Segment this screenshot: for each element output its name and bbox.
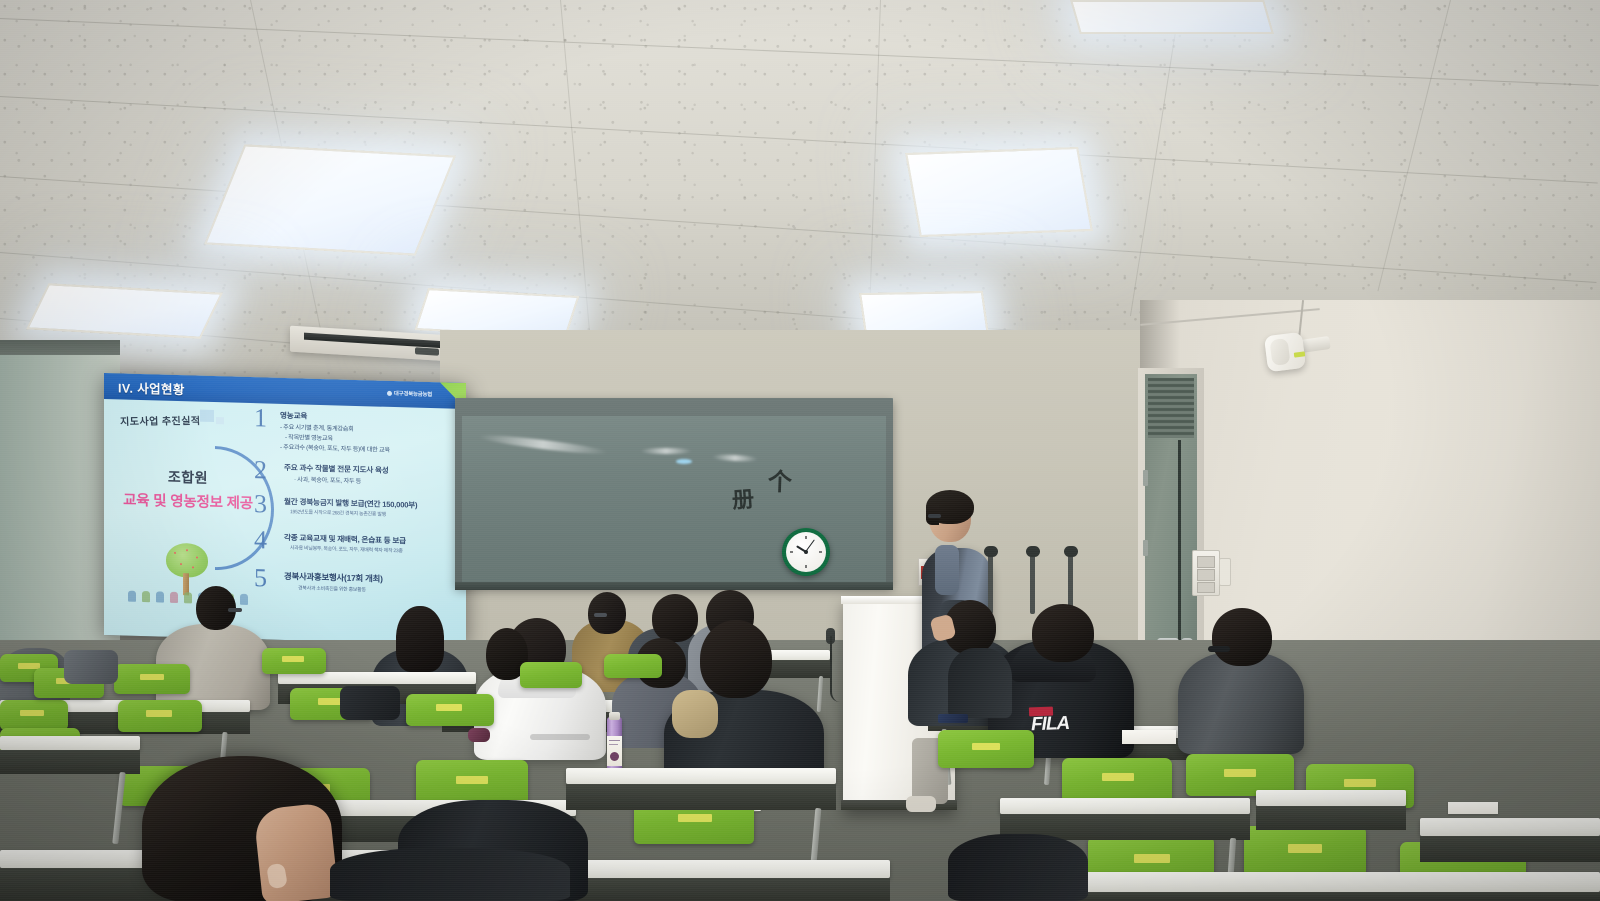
chair-label xyxy=(456,776,488,784)
chair-label xyxy=(1344,779,1376,787)
chair[interactable] xyxy=(262,648,326,674)
backpack xyxy=(340,686,400,720)
desk-front xyxy=(560,878,890,901)
handout-paper xyxy=(1448,802,1498,814)
chair[interactable] xyxy=(938,730,1034,768)
chair[interactable] xyxy=(114,664,190,694)
audience-glasses xyxy=(594,613,607,617)
figure-icon xyxy=(170,592,178,603)
door-hinge xyxy=(1143,540,1148,556)
chair[interactable] xyxy=(520,662,582,688)
wall-clock xyxy=(782,528,830,576)
slide-list-item: 3 월간 경북능금지 발행 보급(연간 150,000부) 1952년도를 시작… xyxy=(254,495,464,531)
chair-label xyxy=(972,743,1000,750)
logo-mark-icon xyxy=(387,390,392,395)
figure-icon xyxy=(128,591,136,602)
audience-body xyxy=(948,648,1012,718)
desk xyxy=(1000,798,1250,814)
mic-stand xyxy=(988,552,993,614)
chair[interactable] xyxy=(406,694,494,726)
slide-item-number: 3 xyxy=(254,491,267,517)
whiteboard-writing: 册 xyxy=(731,481,755,514)
presenter-shirt xyxy=(935,545,959,595)
chair-label xyxy=(1134,854,1170,863)
audience-glasses xyxy=(228,608,242,612)
slide-item-number: 2 xyxy=(254,457,267,483)
desk xyxy=(566,768,836,784)
whiteboard-tray xyxy=(455,582,893,590)
mic-stand xyxy=(1068,552,1073,610)
speaker-grille xyxy=(1269,338,1290,366)
bottle-cap xyxy=(609,712,620,720)
light-switch-button[interactable] xyxy=(1197,556,1215,568)
chair-label xyxy=(20,710,44,716)
slide-list-item: 4 각종 교육교재 및 재배력, 온습표 등 보급 사과용 비닐봉투, 복숭아,… xyxy=(254,531,464,567)
desk-item xyxy=(468,728,490,742)
desk xyxy=(1256,790,1406,806)
chair-label xyxy=(146,710,172,717)
slide-item-number: 5 xyxy=(254,565,267,591)
ceiling-light-panel xyxy=(905,147,1093,237)
audience-body xyxy=(1178,652,1304,754)
figure-icon xyxy=(142,591,150,602)
bottle-label xyxy=(607,736,622,766)
handout-paper xyxy=(1122,730,1176,744)
chair-label xyxy=(678,814,712,822)
slide-item-list: 1 영농교육 - 주요 시기별 춘계, 동계강습회 - 작목반별 영농교육 - … xyxy=(254,409,464,605)
slide-list-item: 2 주요 과수 작물별 전문 지도사 육성 · 사과, 복숭아, 포도, 자두 … xyxy=(254,461,464,497)
chair[interactable] xyxy=(416,760,528,804)
mic-stand xyxy=(1030,552,1035,614)
projection-screen: IV. 사업현황 대구경북능금농협 지도사업 추진실적 조합원 교육 및 영농정… xyxy=(104,373,466,645)
slide-decor-square xyxy=(200,410,214,422)
slide-logo: 대구경북능금농협 xyxy=(387,389,432,398)
desk-front xyxy=(1256,806,1406,830)
desk xyxy=(560,860,890,878)
desk-front xyxy=(566,784,836,810)
presentation-slide: IV. 사업현황 대구경북능금농협 지도사업 추진실적 조합원 교육 및 영농정… xyxy=(104,373,466,645)
hoodie-print xyxy=(530,734,590,740)
slide-item-number: 1 xyxy=(254,405,267,431)
ceiling-light-panel xyxy=(26,283,223,338)
figure-icon xyxy=(156,591,164,602)
slide-list-item: 1 영농교육 - 주요 시기별 춘계, 동계강습회 - 작목반별 영농교육 - … xyxy=(254,409,464,461)
clock-face xyxy=(786,532,826,572)
audience-glasses xyxy=(1208,646,1230,652)
desk xyxy=(0,736,140,750)
slide-logo-text: 대구경북능금농협 xyxy=(394,389,432,398)
audience-body xyxy=(948,834,1088,901)
whiteboard-blue-smudge xyxy=(676,459,692,464)
presenter-glasses xyxy=(928,514,941,518)
mic-head xyxy=(984,546,998,557)
desk-front xyxy=(1064,892,1600,901)
light-switch-panel[interactable] xyxy=(1192,550,1220,596)
door-louver-vent xyxy=(1148,378,1194,438)
chair-label xyxy=(282,656,304,662)
whiteboard-smudge xyxy=(640,448,692,454)
fila-brand-text: FILA xyxy=(1031,713,1104,736)
chair[interactable] xyxy=(1062,758,1172,802)
audience-hair xyxy=(396,606,444,672)
foreground-student-hand xyxy=(253,802,339,901)
chair[interactable] xyxy=(0,700,68,730)
slide-main-message: 조합원 교육 및 영농정보 제공 xyxy=(112,465,264,513)
audience-shoe xyxy=(906,796,936,812)
desk xyxy=(1420,818,1600,836)
light-switch-button[interactable] xyxy=(1197,569,1215,581)
desk-front xyxy=(1420,836,1600,862)
classroom-photo: IV. 사업현황 대구경북능금농협 지도사업 추진실적 조합원 교육 및 영농정… xyxy=(0,0,1600,901)
chair[interactable] xyxy=(604,654,662,678)
door-hinge xyxy=(1143,470,1148,486)
backpack xyxy=(64,650,118,684)
audience-hair xyxy=(700,620,772,698)
chair-label xyxy=(1224,769,1256,777)
chair-label xyxy=(436,704,462,711)
jacket-collar xyxy=(672,690,718,738)
air-conditioner-sensor xyxy=(415,347,439,355)
desk xyxy=(1064,872,1600,892)
slide-title: IV. 사업현황 xyxy=(118,377,185,398)
desk-front xyxy=(0,750,140,774)
slide-item-number: 4 xyxy=(254,527,267,553)
whiteboard-writing: 个 xyxy=(767,462,792,498)
slide-list-item: 5 경북사과홍보행사(17회 개최) 경북사과 소비촉진을 위한 홍보활동 xyxy=(254,569,464,605)
foreground-student-body xyxy=(330,848,570,901)
slide-decor-square xyxy=(216,417,224,424)
ceiling-light-panel xyxy=(204,144,456,255)
left-wall xyxy=(0,355,120,685)
mic-head xyxy=(1064,546,1078,557)
mic-head xyxy=(1026,546,1040,557)
audience-hair xyxy=(652,594,698,642)
chair[interactable] xyxy=(118,700,202,732)
switch-secondary-panel[interactable] xyxy=(1219,558,1231,586)
figure-icon xyxy=(240,594,248,605)
slide-main-line2: 교육 및 영농정보 제공 xyxy=(112,488,264,513)
chair-label xyxy=(1102,773,1134,781)
audience-hair xyxy=(1212,608,1272,666)
figure-icon xyxy=(184,592,192,603)
chair-label xyxy=(1288,844,1322,853)
slide-main-line1: 조합원 xyxy=(112,465,264,489)
phone xyxy=(938,714,968,723)
slide-handwritten-label: 지도사업 추진실적 xyxy=(120,412,201,428)
chair-label xyxy=(140,674,164,680)
ceiling-light-panel xyxy=(1070,0,1274,34)
chair[interactable] xyxy=(1244,826,1366,876)
light-switch-button[interactable] xyxy=(1197,582,1215,593)
audience-hair xyxy=(1032,604,1094,662)
